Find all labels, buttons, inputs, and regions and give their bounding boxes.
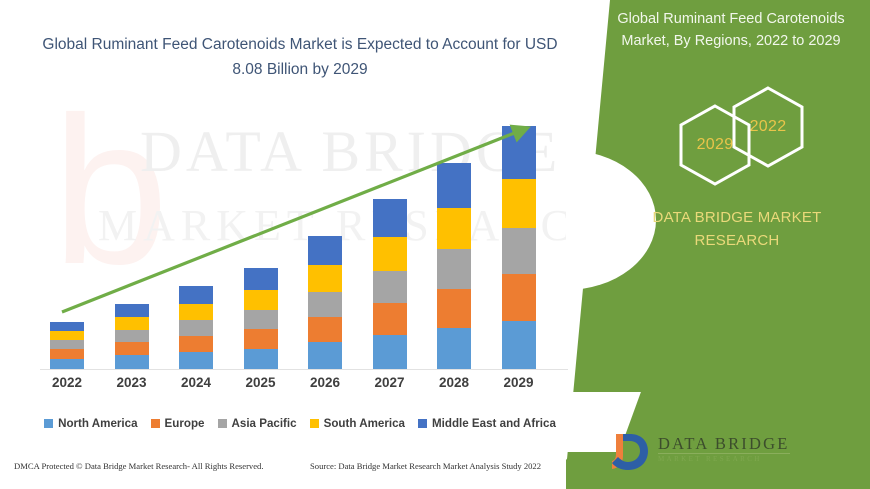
hexagon-badge-2022: 2022 <box>731 85 805 169</box>
legend-label: Middle East and Africa <box>432 417 556 430</box>
legend-label: South America <box>324 417 405 430</box>
company-logo: DATA BRIDGE MARKET RESEARCH <box>608 428 808 476</box>
hexagon-label-end: 2022 <box>731 85 805 169</box>
legend-item-middle-east-and-africa[interactable]: Middle East and Africa <box>418 417 556 430</box>
legend-swatch-icon <box>151 419 160 428</box>
legend-label: Asia Pacific <box>232 417 297 430</box>
footer: DMCA Protected © Data Bridge Market Rese… <box>0 458 600 486</box>
growth-arrow-icon <box>0 0 600 400</box>
logo-tagline: MARKET RESEARCH <box>658 455 762 463</box>
infographic-root: b DATA BRIDGE MARKET RESEARCH Global Rum… <box>0 0 870 489</box>
chart-legend: North AmericaEuropeAsia PacificSouth Ame… <box>0 417 600 430</box>
legend-swatch-icon <box>310 419 319 428</box>
logo-wordmark: DATA BRIDGE <box>658 434 790 454</box>
panel-title: Global Ruminant Feed Carotenoids Market,… <box>600 8 862 52</box>
panel-brand-text: DATA BRIDGE MARKET RESEARCH <box>612 206 862 252</box>
legend-swatch-icon <box>44 419 53 428</box>
legend-item-europe[interactable]: Europe <box>151 417 205 430</box>
legend-item-south-america[interactable]: South America <box>310 417 405 430</box>
legend-swatch-icon <box>418 419 427 428</box>
logo-divider <box>658 453 790 454</box>
data-bridge-logo-icon <box>608 430 652 474</box>
legend-swatch-icon <box>218 419 227 428</box>
footer-source: Source: Data Bridge Market Research Mark… <box>310 461 541 471</box>
legend-item-north-america[interactable]: North America <box>44 417 137 430</box>
footer-copyright: DMCA Protected © Data Bridge Market Rese… <box>14 461 264 471</box>
legend-item-asia-pacific[interactable]: Asia Pacific <box>218 417 297 430</box>
legend-label: North America <box>58 417 137 430</box>
legend-label: Europe <box>165 417 205 430</box>
